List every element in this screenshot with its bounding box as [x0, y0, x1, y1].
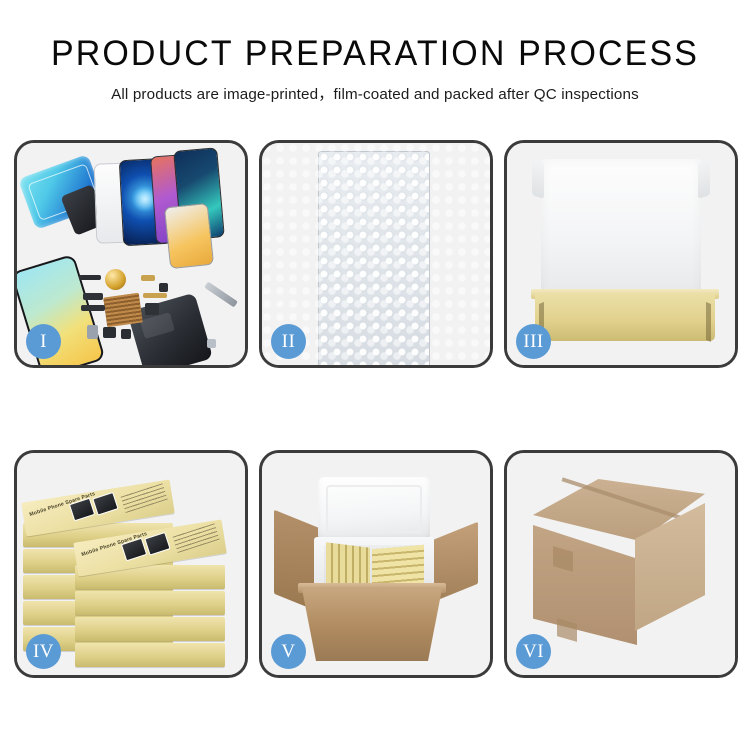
yellow-box-front [535, 293, 715, 341]
step-badge-2: II [271, 324, 306, 359]
step-badge-3: III [516, 324, 551, 359]
logic-board-chip [103, 293, 143, 328]
box-window-front-2 [144, 532, 170, 556]
tweezers-tool [204, 282, 238, 308]
box-stack: Mobile Phone Spare Parts Mobile Phone Sp… [23, 475, 243, 665]
part-dot-3 [159, 283, 168, 292]
process-step-panel-1: I [14, 140, 248, 368]
step-badge-6: VI [516, 634, 551, 669]
stacked-box-front-5 [75, 643, 225, 667]
part-dot-7 [207, 339, 216, 348]
phone-gold-display [164, 203, 214, 269]
process-step-panel-4: Mobile Phone Spare Parts Mobile Phone Sp… [14, 450, 248, 678]
step-badge-4: IV [26, 634, 61, 669]
process-step-panel-3: III [504, 140, 738, 368]
foam-box-lid [318, 477, 430, 541]
process-step-panel-2: II [259, 140, 493, 368]
stacked-box-front-3 [75, 591, 225, 615]
speaker-module-icon [105, 269, 126, 290]
foam-sheet-lid [541, 159, 701, 299]
part-dot-1 [79, 275, 101, 280]
box-text-block-back [120, 482, 167, 513]
part-dot-6 [121, 329, 131, 339]
process-steps-grid: I II III [14, 140, 736, 678]
flex-cable-3 [143, 293, 167, 298]
flex-cable-1 [83, 293, 103, 300]
step-badge-5: V [271, 634, 306, 669]
bubble-wrap-bag [318, 151, 430, 368]
part-dot-2 [141, 275, 155, 281]
carton-front-face [533, 525, 637, 645]
stacked-box-front-4 [75, 617, 225, 641]
step-badge-1: I [26, 324, 61, 359]
page-header: PRODUCT PREPARATION PROCESS All products… [0, 0, 750, 104]
process-step-panel-6: VI [504, 450, 738, 678]
box-window-back-2 [92, 492, 118, 516]
page-title: PRODUCT PREPARATION PROCESS [11, 36, 739, 73]
page-subtitle: All products are image-printed，film-coat… [0, 82, 750, 104]
process-step-panel-5: V [259, 450, 493, 678]
part-dot-5 [103, 327, 116, 338]
box-text-block-front [172, 522, 219, 553]
part-dot-4 [87, 325, 98, 339]
flex-cable-4 [145, 303, 159, 315]
flex-cable-2 [81, 305, 105, 311]
carton-body [302, 589, 442, 661]
